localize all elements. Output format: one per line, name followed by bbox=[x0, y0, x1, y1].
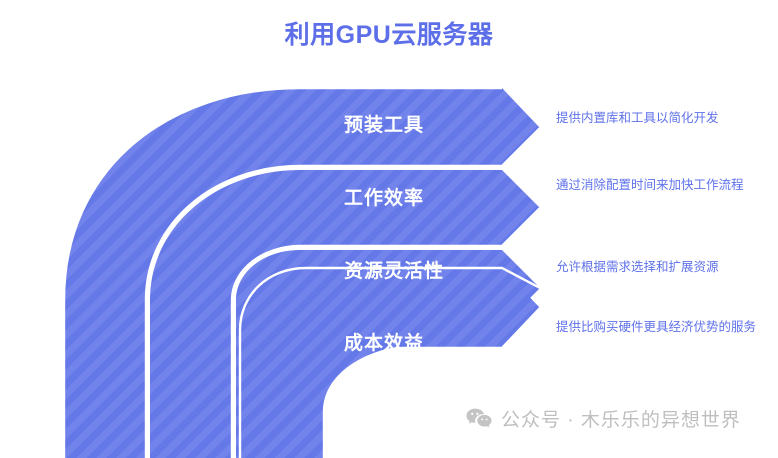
watermark-text: 公众号 · 木乐乐的异想世界 bbox=[501, 405, 741, 432]
screenshot-canvas: 利用GPU云服务器 bbox=[0, 0, 778, 458]
band-description-1: 通过消除配置时间来加快工作流程 bbox=[556, 176, 774, 194]
curved-arrow-diagram bbox=[0, 0, 778, 458]
band-label-2: 资源灵活性 bbox=[344, 256, 444, 283]
band-label-1: 工作效率 bbox=[344, 183, 424, 210]
band-description-3: 提供比购买硬件更具经济优势的服务 bbox=[556, 318, 774, 336]
band-label-3: 成本效益 bbox=[344, 328, 424, 355]
band-label-0: 预装工具 bbox=[344, 110, 424, 137]
wechat-icon bbox=[466, 408, 492, 430]
band-description-2: 允许根据需求选择和扩展资源 bbox=[556, 258, 774, 276]
band-description-0: 提供内置库和工具以简化开发 bbox=[556, 109, 774, 127]
watermark: 公众号 · 木乐乐的异想世界 bbox=[466, 405, 741, 432]
